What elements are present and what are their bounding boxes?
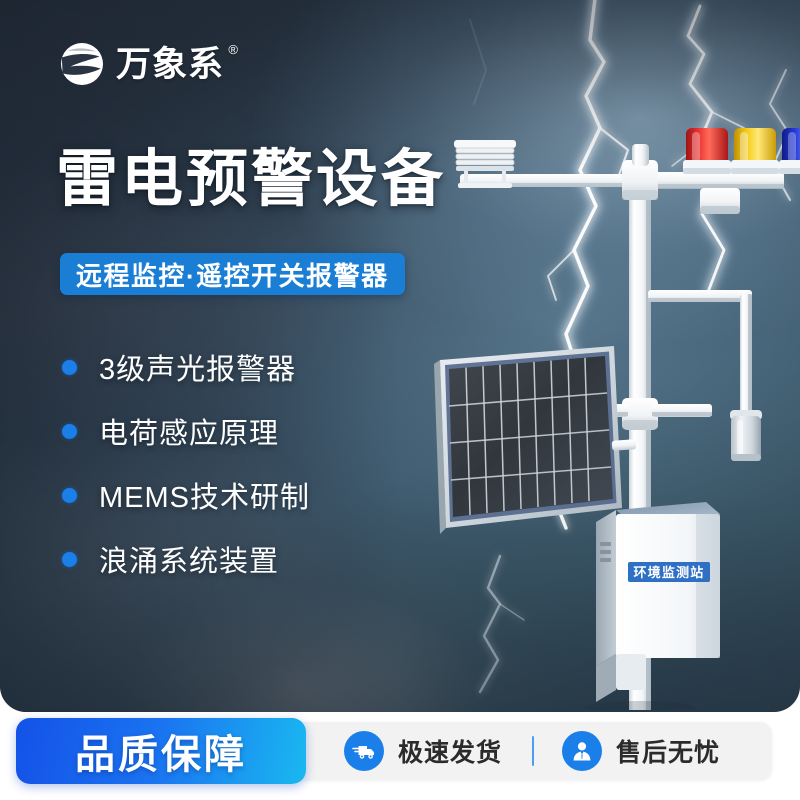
registered-trademark-mark: ® xyxy=(228,43,239,56)
quality-assurance-label: 品质保障 xyxy=(75,722,247,780)
after-sales-label: 售后无忧 xyxy=(616,733,720,769)
promo-banner: 环境监测站 万象系 ® 雷电预警设备 远程监控·遥控开关报警 xyxy=(0,0,800,800)
brand-logo: 万象系 ® xyxy=(58,38,224,90)
fast-shipping-label: 极速发货 xyxy=(398,733,502,769)
customer-service-person-icon xyxy=(562,731,602,771)
dot-bullet-icon xyxy=(62,488,77,503)
footer-divider xyxy=(532,736,534,766)
feature-label: 电荷感应原理 xyxy=(99,410,279,452)
footer-item-group: 极速发货 售后无忧 xyxy=(328,722,762,780)
feature-label: MEMS技术研制 xyxy=(99,474,310,516)
feature-label: 3级声光报警器 xyxy=(99,346,296,388)
page-title: 雷电预警设备 xyxy=(56,148,446,212)
feature-item: 3级声光报警器 xyxy=(62,348,310,386)
feature-item: 电荷感应原理 xyxy=(62,412,310,450)
fast-shipping-item: 极速发货 xyxy=(344,731,502,771)
after-sales-item: 售后无忧 xyxy=(562,731,720,771)
swoosh-globe-logo-icon xyxy=(58,40,106,88)
feature-item: 浪涌系统装置 xyxy=(62,540,310,578)
brand-name-text: 万象系 xyxy=(116,45,224,84)
brand-name: 万象系 ® xyxy=(116,47,224,82)
dot-bullet-icon xyxy=(62,360,77,375)
feature-list: 3级声光报警器 电荷感应原理 MEMS技术研制 浪涌系统装置 xyxy=(62,348,310,578)
subtitle-badge: 远程监控·遥控开关报警器 xyxy=(60,253,405,295)
dot-bullet-icon xyxy=(62,552,77,567)
dot-bullet-icon xyxy=(62,424,77,439)
feature-item: MEMS技术研制 xyxy=(62,476,310,514)
feature-label: 浪涌系统装置 xyxy=(99,538,279,580)
delivery-truck-icon xyxy=(344,731,384,771)
quality-assurance-badge: 品质保障 xyxy=(16,718,306,784)
trust-footer-bar: 品质保障 xyxy=(28,722,772,780)
